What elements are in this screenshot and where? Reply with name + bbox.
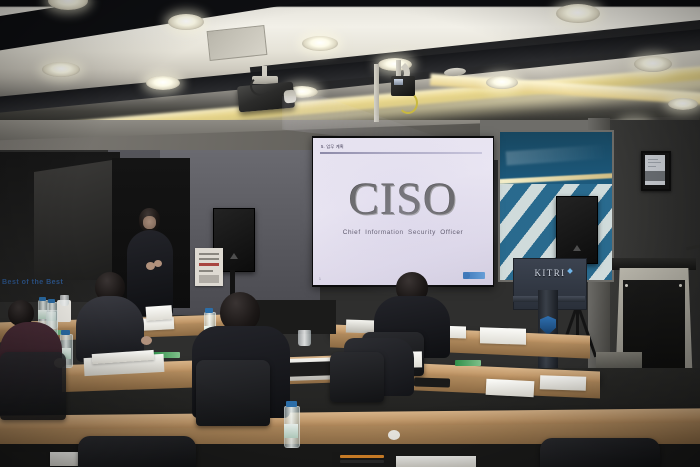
paper-cup: [60, 295, 69, 306]
speaker-right: [556, 196, 598, 264]
bottle-cap: [48, 299, 55, 303]
lectern-knob: [679, 284, 682, 287]
downlight: [486, 76, 518, 89]
booklet-cover: [284, 361, 336, 377]
presenter-face: [143, 216, 156, 229]
certificate-line: [648, 162, 661, 163]
kitri-emblem-icon: [540, 316, 556, 335]
slide-title-rule: [320, 152, 482, 154]
wall-signage-text: Best of the Best: [2, 279, 63, 286]
document-paper: [396, 456, 476, 467]
camera-wiring: [398, 92, 418, 114]
bottle-label: [284, 424, 298, 438]
certificate-block: [645, 171, 665, 181]
slide-subtitle: Chief Information Security Officer: [313, 229, 493, 236]
chair: [78, 436, 196, 467]
document-paper: [480, 327, 526, 345]
downlight: [634, 56, 672, 72]
slide-page-number: 1: [319, 277, 321, 281]
projection-screen: 5. 업무 계획 CISO Chief Information Security…: [313, 138, 493, 285]
kitri-label: KITRI: [514, 268, 586, 278]
downlight: [668, 98, 698, 110]
chair: [540, 438, 660, 467]
document-paper: [540, 375, 586, 391]
wall-notice: [195, 248, 223, 286]
presenter-hand: [154, 260, 162, 267]
slide-acronym: CISO: [313, 176, 493, 222]
kitri-sign-post: [538, 290, 558, 374]
speaker-logo-icon: [573, 245, 581, 251]
slide-logo: [463, 272, 485, 279]
platform-step: [596, 352, 642, 368]
notice-highlight: [199, 263, 219, 266]
paper-cup: [298, 330, 311, 346]
pen-case: [414, 377, 450, 387]
bottle-cap: [39, 297, 46, 301]
bottle-cap: [61, 330, 70, 335]
chair: [196, 360, 270, 426]
camera-lens: [394, 79, 403, 85]
notice-line: [199, 258, 219, 260]
downlight: [556, 4, 600, 23]
downlight: [168, 14, 204, 30]
document-paper: [486, 379, 535, 397]
crumpled-napkin: [388, 430, 400, 440]
bottle-cap: [205, 308, 213, 313]
slide-heading: 5. 업무 계획: [321, 144, 344, 150]
projection-screen-frame: 5. 업무 계획 CISO Chief Information Security…: [312, 136, 494, 287]
pen: [340, 460, 384, 463]
attendee-hand: [141, 336, 152, 345]
notice-line: [199, 253, 219, 255]
projector-cable: [250, 76, 272, 96]
slide-logo-mark: [463, 272, 470, 279]
chair: [0, 352, 66, 420]
certificate-line: [648, 166, 656, 167]
green-folder: [455, 360, 481, 366]
notice-line: [199, 270, 213, 272]
downlight: [302, 36, 338, 51]
document-paper: [146, 305, 173, 321]
ceiling-vent: [207, 25, 268, 61]
framed-certificate: [641, 151, 671, 191]
notice-block: [199, 275, 219, 283]
lectern-knob: [625, 284, 628, 287]
downlight: [146, 76, 180, 90]
speaker-logo-icon: [230, 253, 238, 259]
chair: [330, 352, 384, 402]
seminar-room-photo: Best of the Best 5. 업무 계획 CISO Chief Inf…: [0, 0, 700, 467]
certificate-line: [648, 159, 658, 160]
bottle-cap: [286, 401, 297, 407]
wall-left-panel: [34, 160, 112, 280]
booklet-cover: [12, 452, 46, 465]
downlight: [42, 62, 80, 77]
pen: [340, 455, 384, 458]
